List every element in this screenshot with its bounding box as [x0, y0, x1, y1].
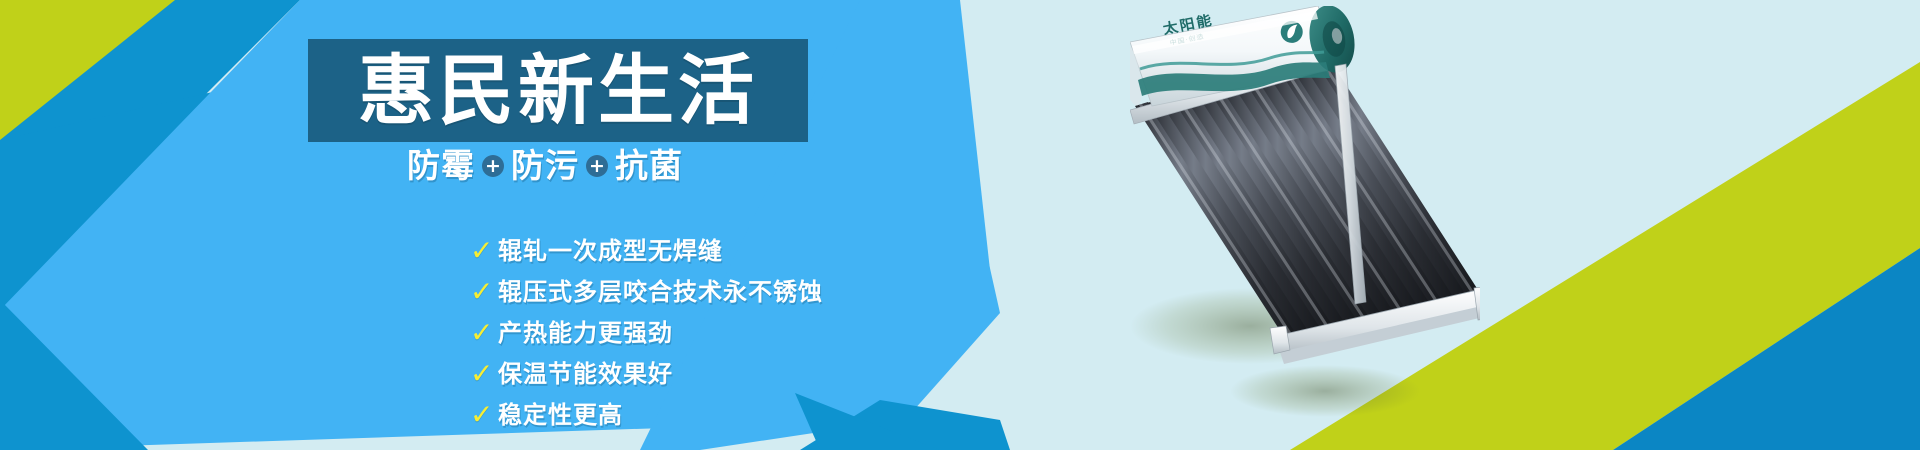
subtitle-row: 防霉 + 防污 + 抗菌	[375, 142, 715, 190]
feature-list: ✓ 辊轧一次成型无焊缝 ✓ 辊压式多层咬合技术永不锈蚀 ✓ 产热能力更强劲 ✓ …	[470, 233, 900, 438]
check-icon: ✓	[470, 360, 498, 388]
check-icon: ✓	[470, 401, 498, 429]
subtitle-word-2: 防污	[511, 149, 579, 183]
title-banner-box: 惠民新生活	[308, 39, 808, 142]
feature-label: 保温节能效果好	[498, 361, 673, 387]
feature-label: 辊压式多层咬合技术永不锈蚀	[498, 279, 823, 305]
list-item: ✓ 辊压式多层咬合技术永不锈蚀	[470, 274, 900, 309]
solar-heater-graphic: 太阳能 中国·创造	[1130, 6, 1480, 436]
check-icon: ✓	[470, 278, 498, 306]
product-shadow-2	[1230, 365, 1420, 417]
promo-banner: 惠民新生活 防霉 + 防污 + 抗菌 ✓ 辊轧一次成型无焊缝 ✓ 辊压式多层咬合…	[0, 0, 1920, 450]
plus-icon-2: +	[586, 155, 608, 177]
feature-label: 辊轧一次成型无焊缝	[498, 238, 723, 264]
background-geometry	[0, 0, 1920, 450]
feature-label: 稳定性更高	[498, 402, 623, 428]
subtitle-word-3: 抗菌	[615, 149, 683, 183]
background-shapes	[0, 0, 1920, 450]
list-item: ✓ 产热能力更强劲	[470, 315, 900, 350]
check-icon: ✓	[470, 319, 498, 347]
frame-foot-left	[1270, 326, 1290, 354]
feature-label: 产热能力更强劲	[498, 320, 673, 346]
list-item: ✓ 稳定性更高	[470, 397, 900, 432]
subtitle-word-1: 防霉	[407, 149, 475, 183]
check-icon: ✓	[470, 237, 498, 265]
plus-icon-1: +	[482, 155, 504, 177]
page-title: 惠民新生活	[308, 39, 808, 142]
list-item: ✓ 辊轧一次成型无焊缝	[470, 233, 900, 268]
list-item: ✓ 保温节能效果好	[470, 356, 900, 391]
solar-water-heater-image: solar-water-heater	[1130, 6, 1480, 436]
